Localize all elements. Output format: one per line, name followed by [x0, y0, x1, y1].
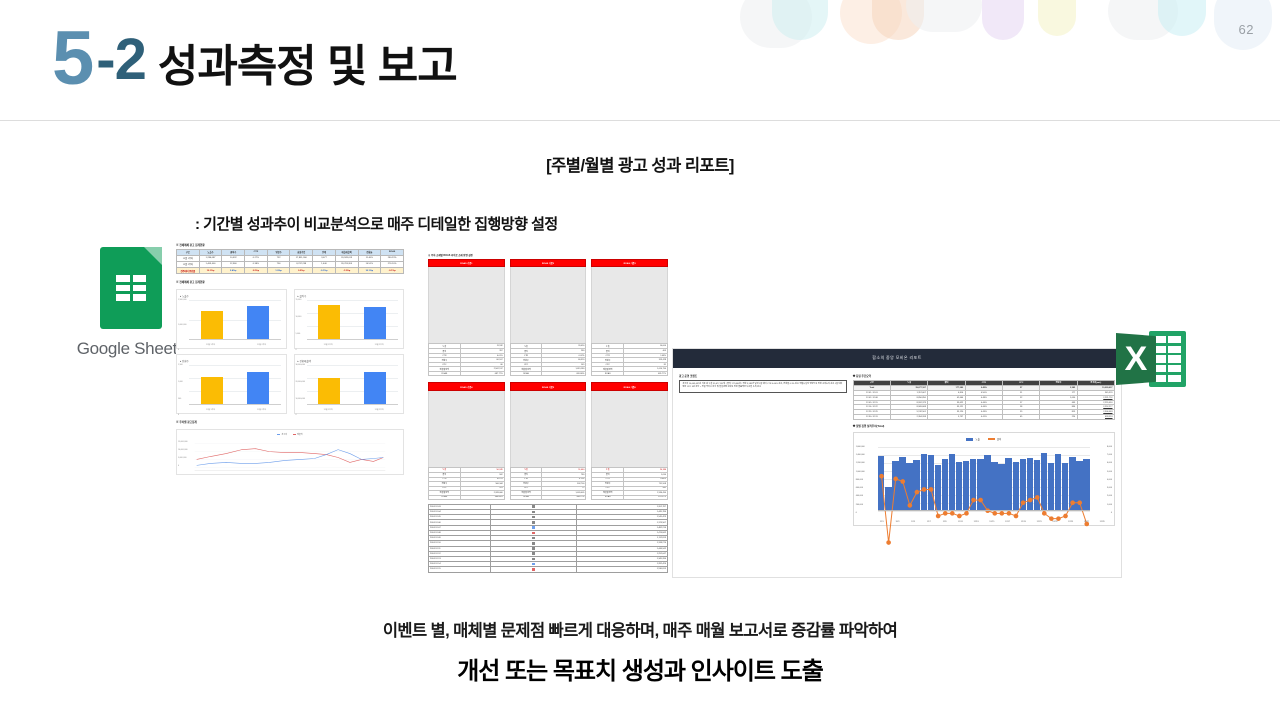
table-cell: 2024-12-15 [429, 567, 491, 572]
daily-roas-table: 2024-12-031,202,7872024-12-041,445,78020… [428, 504, 668, 573]
bar [201, 377, 223, 404]
table-row: 12.30~12.312,394,2089,7370.41%65224628,5… [853, 414, 1114, 419]
table-cell: 288.27% [542, 495, 586, 499]
table-cell: 278.27% [624, 495, 668, 499]
table-cell: 481.77% [624, 372, 668, 376]
block-header: ROAS 기준6 [591, 382, 668, 390]
roas-block-row-1: ROAS 기준1노출11,532클릭397CTR0.01%전환수60,107CP… [428, 259, 668, 376]
roas-block-row-2: ROAS 기준4노출50,249클릭902CTR0.07%전환수506,344C… [428, 382, 668, 499]
axis-tick-label: 12/17 [1005, 521, 1010, 523]
table-cell: 65 [1003, 414, 1040, 419]
axis-tick-label: 6,000 [1107, 462, 1112, 464]
table-row: ROAS288.27% [510, 495, 586, 499]
table-cell: 224 [1040, 414, 1077, 419]
table-cell: 620.80% [542, 372, 586, 376]
table-cell: 전주대비 증감률 [177, 268, 200, 274]
axis-tick-label: 12/7 [927, 521, 931, 523]
axis-tick-label: 20,000,000 [296, 381, 305, 383]
section-heading: [주별/월별 광고 성과 리포트] [0, 152, 1280, 176]
table-cell: ROAS [510, 495, 542, 499]
axis-tick-label: 1,000,000 [856, 471, 865, 473]
table-cell: -1.2%p [335, 268, 358, 274]
axis-tick-label: 0 [178, 414, 179, 416]
axis-tick-label: 0 [296, 349, 297, 351]
roas-report-screenshot[interactable]: ※ 주차 소재별 ROAS 추이로 소재 방향 설정 ROAS 기준1노출11,… [428, 253, 668, 581]
axis-tick-label: 12/15 [989, 521, 994, 523]
table-row: ROAS481.77% [592, 372, 668, 376]
mini-chart-title: ▸ 전환수 [180, 359, 283, 363]
bar [247, 306, 269, 340]
roas-block: ROAS 기준1노출11,532클릭397CTR0.01%전환수60,107CP… [428, 259, 505, 376]
chart-label: ◆ 일별 집행 실적추이(Total) [853, 424, 1115, 428]
title-number: 5 [52, 26, 92, 93]
section-subheading: : 기간별 성과추이 비교분석으로 매주 디테일한 집행방향 설정 [195, 213, 558, 234]
masked-content-area [510, 391, 587, 467]
mini-chart-title: ▸ 클릭수 [298, 294, 401, 298]
axis-tick-label: 400,000 [856, 495, 863, 497]
axis-tick-label: 5,000 [296, 333, 301, 335]
table-cell [491, 567, 577, 572]
table-cell: ROAS [592, 372, 624, 376]
google-sheets-logo: Google Sheets [72, 247, 190, 359]
axis-tick-label: 12/29 [1100, 521, 1105, 523]
axis-tick-label: 12월 1주차 [310, 408, 347, 411]
table-cell: 0.3%p [290, 268, 313, 274]
axis-tick-label: 1,000 [178, 381, 183, 383]
bar [318, 378, 340, 405]
axis-tick-label: 12/5 [911, 521, 915, 523]
left-trend-label: ※ 주차별 광고집계 [176, 420, 404, 424]
trend-chart-lines [177, 430, 403, 475]
masked-content-area [591, 267, 668, 343]
legend-item: 노출 [966, 438, 979, 441]
axis-tick-label: 10,000 [296, 316, 302, 318]
table-cell: 1,530,815 [577, 567, 668, 572]
table-cell: 10.1%p [358, 268, 381, 274]
sheets-report-screenshot[interactable]: ※ 전체매체 광고 집계현황 구분노출수클릭수CTR방문수회원가입결제매출매출액… [176, 243, 404, 505]
axis-tick-label: 12/21 [1037, 521, 1042, 523]
axis-tick-label: 10,000,000 [296, 398, 305, 400]
decorative-blob [906, 0, 982, 32]
table-cell: 0.2%p [245, 268, 268, 274]
axis-tick-label: 0 [178, 465, 179, 467]
google-sheets-label: Google Sheets [72, 339, 190, 359]
decorative-blob-layer [720, 0, 1280, 62]
axis-tick-label: 1,200,000 [856, 462, 865, 464]
sheets-document-icon [100, 247, 162, 329]
title-text: 성과측정 및 보고 [150, 45, 457, 93]
masked-content-area [428, 267, 505, 343]
bar [318, 305, 340, 339]
masked-content-area [428, 391, 505, 467]
table-row: ROAS380.84% [429, 495, 505, 499]
table-row: ROAS687.77% [429, 372, 505, 376]
axis-tick-label: 12월 1주차 [192, 343, 229, 346]
table-row: ROAS278.27% [592, 495, 668, 499]
table-cell: ROAS [429, 495, 461, 499]
axis-tick-label: 200,000 [856, 504, 863, 506]
axis-tick-label: 8,000 [1107, 446, 1112, 448]
axis-tick-label: 12/27 [1084, 521, 1089, 523]
title-number-sub: -2 [96, 31, 146, 93]
axis-tick-label: 15,000 [296, 299, 302, 301]
report-title-bar: 합소의 중앙 모비온 리포트 [673, 349, 1121, 368]
table-cell: ROAS [510, 372, 542, 376]
mini-chart-title: ▸ 노출수 [180, 294, 283, 298]
microsoft-excel-logo: X [1116, 331, 1186, 389]
axis-tick-label: 3,000 [1107, 487, 1112, 489]
table-cell: 10.1%p [199, 268, 222, 274]
block-header: ROAS 기준1 [428, 259, 505, 267]
decorative-blob [740, 0, 812, 48]
axis-tick-label: 12/19 [1021, 521, 1026, 523]
axis-tick-label: 2,000 [1107, 495, 1112, 497]
axis-tick-label: 0 [856, 512, 857, 514]
axis-tick-label: 1,600,000 [856, 446, 865, 448]
bottom-caption-1: 이벤트 별, 매체별 문제점 빠르게 대응하며, 매주 매월 보고서로 증감률 … [0, 617, 1280, 641]
decorative-blob [1158, 0, 1206, 36]
decorative-blob [982, 0, 1024, 40]
page-title: 5 -2 성과측정 및 보고 [52, 26, 457, 93]
left-table-label: ※ 전체매체 광고 집계현황 [176, 243, 404, 247]
excel-report-screenshot[interactable]: 합소의 중앙 모비온 리포트 광고 운영 코멘트 광고비 10,009,637원… [672, 348, 1122, 578]
axis-tick-label: 5,000 [1107, 471, 1112, 473]
axis-tick-label: 12/3 [895, 521, 899, 523]
weekly-trend-line-chart: 광고비매출액 15,000,00010,000,0005,000,0000 [176, 429, 404, 475]
excel-letter-x: X [1116, 333, 1156, 385]
axis-tick-label: 0 [178, 349, 179, 351]
roas-metrics-table: 노출20,186클릭1,090CTR0.06%전환수751,908CPC481매… [591, 467, 668, 500]
axis-tick-label: 30,000,000 [296, 364, 305, 366]
axis-tick-label: 5,000,000 [178, 457, 186, 459]
weekly-summary-table: 구분노출클릭CTRCPC전환수광고비(vat-) Total39,677,187… [853, 380, 1115, 420]
roas-metrics-table: 노출10,004클릭409CTR1.08%전환수313,428CPC81매출발생… [591, 343, 668, 376]
block-header: ROAS 기준3 [591, 259, 668, 267]
table-row: 전주대비 증감률10.1%p2.4%p0.2%p1.0%p0.3%p-0.1%p… [177, 268, 404, 274]
decorative-blob [1108, 0, 1178, 40]
table-cell: -0.1%p [381, 268, 404, 274]
masked-content-area [591, 391, 668, 467]
roas-metrics-table: 노출51,040클릭780CTR0.11%전환수302,700CPC72매출발생… [510, 467, 587, 500]
axis-tick-label: 7,000 [1107, 454, 1112, 456]
roas-block: ROAS 기준5노출51,040클릭780CTR0.11%전환수302,700C… [510, 382, 587, 499]
axis-tick-label: 12월 2주차 [361, 408, 398, 411]
decorative-blob [840, 0, 902, 44]
page-fold-icon [144, 247, 162, 265]
axis-tick-label: 1,400,000 [856, 454, 865, 456]
comment-text: 광고비 10,009,637원 기준 총 노출 39,677,187회 / 클릭… [679, 380, 847, 393]
bar [201, 311, 223, 339]
mini-chart-title: ▸ 전환매출액 [298, 359, 401, 363]
axis-tick-label: 12/13 [974, 521, 979, 523]
page-number: 62 [1239, 22, 1254, 37]
decorative-blob [772, 0, 828, 40]
spreadsheet-grid-icon [116, 275, 146, 301]
bar [364, 307, 386, 339]
table-cell: 0.41% [965, 414, 1002, 419]
mid-panel-heading: ※ 주차 소재별 ROAS 추이로 소재 방향 설정 [428, 253, 668, 257]
mini-chart-row-2: ▸ 전환수1,5001,000500012월 1주차12월 2주차▸ 전환매출액… [176, 354, 404, 414]
combo-chart-legend: 노출클릭 [854, 437, 1114, 441]
daily-performance-combo-chart: 노출클릭 1,600,0001,400,0001,200,0001,000,00… [853, 432, 1115, 526]
decorative-blob [872, 0, 924, 40]
table-cell: ROAS [429, 372, 461, 376]
block-header: ROAS 기준2 [510, 259, 587, 267]
roas-block: ROAS 기준2노출20,090클릭280CTR0.02%전환수60,320CP… [510, 259, 587, 376]
mini-bar-chart: ▸ 전환수1,5001,000500012월 1주차12월 2주차 [176, 354, 287, 414]
table-cell: 12.30~12.31 [853, 414, 890, 419]
axis-tick-label: 0 [296, 414, 297, 416]
excel-grid-icon [1153, 336, 1181, 382]
table-cell: 380.84% [460, 495, 504, 499]
bar [364, 372, 386, 405]
media-summary-table: 구분노출수클릭수CTR방문수회원가입결제매출매출액전환율ROAS 12월 1주차… [176, 249, 404, 275]
mini-bar-chart: ▸ 노출수1,500,0001,000,000012월 1주차12월 2주차 [176, 289, 287, 349]
roas-block: ROAS 기준6노출20,186클릭1,090CTR0.06%전환수751,90… [591, 382, 668, 499]
masked-content-area [510, 267, 587, 343]
axis-tick-label: 4,000 [1107, 479, 1112, 481]
roas-metrics-table: 노출20,090클릭280CTR0.02%전환수60,320CPC149매출발생… [510, 343, 587, 376]
table-cell: 628,553 [1077, 414, 1114, 419]
axis-tick-label: 12월 2주차 [243, 343, 280, 346]
mini-bar-chart: ▸ 전환매출액30,000,00020,000,00010,000,000012… [294, 354, 405, 414]
axis-tick-label: 12월 2주차 [361, 343, 398, 346]
axis-tick-label: 12월 2주차 [243, 408, 280, 411]
table-cell: 1.0%p [267, 268, 290, 274]
axis-tick-label: 12월 1주차 [310, 343, 347, 346]
axis-tick-label: 12/23 [1052, 521, 1057, 523]
axis-tick-label: 12/11 [958, 521, 963, 523]
table-row: 2024-12-151,530,815 [429, 567, 668, 572]
table-cell: 9,737 [928, 414, 965, 419]
axis-tick-label: 12월 1주차 [192, 408, 229, 411]
roas-block: ROAS 기준4노출50,249클릭902CTR0.07%전환수506,344C… [428, 382, 505, 499]
mini-bar-chart: ▸ 클릭수15,00010,0005,000012월 1주차12월 2주차 [294, 289, 405, 349]
comment-label: 광고 운영 코멘트 [679, 374, 847, 378]
axis-tick-label: 1,500 [178, 364, 183, 366]
roas-metrics-table: 노출50,249클릭902CTR0.07%전환수506,344CPC101매출발… [428, 467, 505, 500]
combo-chart-plot [878, 447, 1090, 511]
decorative-blob [1038, 0, 1076, 36]
axis-tick-label: 1,500,000 [178, 299, 186, 301]
axis-tick-label: 0 [1111, 512, 1112, 514]
axis-tick-label: 1,000 [1107, 504, 1112, 506]
axis-tick-label: 12/25 [1068, 521, 1073, 523]
roas-block: ROAS 기준3노출10,004클릭409CTR1.08%전환수313,428C… [591, 259, 668, 376]
axis-tick-label: 10,000,000 [178, 449, 187, 451]
axis-tick-label: 15,000,000 [178, 441, 187, 443]
table-cell: 2.4%p [222, 268, 245, 274]
bar [247, 372, 269, 405]
axis-tick-label: 500 [178, 398, 181, 400]
axis-tick-label: 1,000,000 [178, 324, 186, 326]
axis-tick-label: 12/9 [943, 521, 947, 523]
axis-tick-label: 600,000 [856, 487, 863, 489]
mini-chart-row-1: ▸ 노출수1,500,0001,000,000012월 1주차12월 2주차▸ … [176, 289, 404, 349]
table-row: ROAS620.80% [510, 372, 586, 376]
axis-tick-label: 800,000 [856, 479, 863, 481]
axis-tick-label: 12/1 [880, 521, 884, 523]
title-divider [0, 120, 1280, 121]
table-cell: 687.77% [460, 372, 504, 376]
summary-label: ◆ 동일 주간요약 [853, 374, 1115, 378]
table-cell: ROAS [592, 495, 624, 499]
roas-metrics-table: 노출11,532클릭397CTR0.01%전환수60,107CPC66매출발생액… [428, 343, 505, 376]
table-cell: -0.1%p [313, 268, 336, 274]
left-chart-label: ※ 전체매체 광고 집계현황 [176, 280, 404, 284]
legend-item: 클릭 [988, 438, 1001, 441]
block-header: ROAS 기준5 [510, 382, 587, 390]
bottom-caption-2: 개선 또는 목표치 생성과 인사이트 도출 [0, 651, 1280, 686]
block-header: ROAS 기준4 [428, 382, 505, 390]
table-cell: 2,394,208 [891, 414, 928, 419]
